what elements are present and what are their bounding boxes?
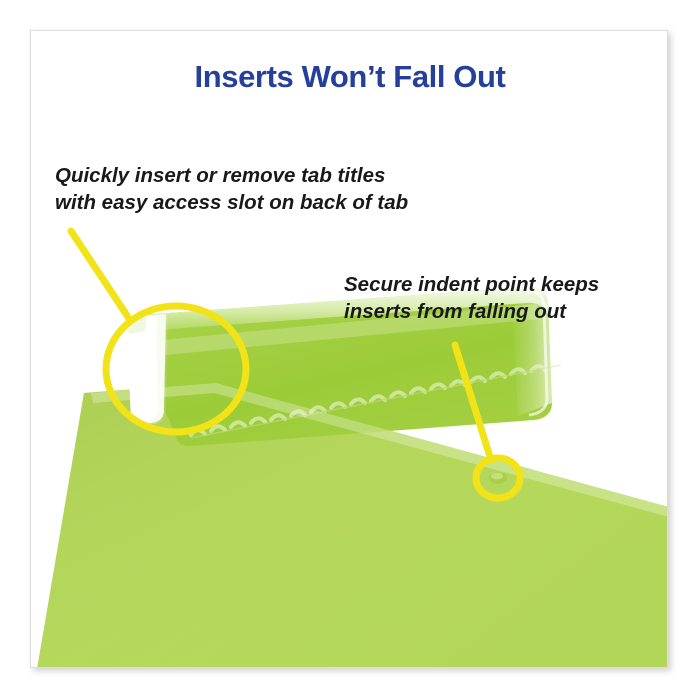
callout-indent-point-line1: Secure indent point keeps bbox=[344, 271, 599, 298]
page-title: Inserts Won’t Fall Out bbox=[31, 59, 668, 95]
callout-indent-point-line2: inserts from falling out bbox=[344, 298, 599, 325]
callout-indent-point: Secure indent point keeps inserts from f… bbox=[344, 271, 599, 325]
product-feature-card: Inserts Won’t Fall Out Quickly insert or… bbox=[30, 30, 668, 668]
callout-access-slot-line1: Quickly insert or remove tab titles bbox=[55, 162, 408, 189]
screenshot-root: Inserts Won’t Fall Out Quickly insert or… bbox=[0, 0, 700, 700]
callout-access-slot: Quickly insert or remove tab titles with… bbox=[55, 162, 408, 216]
callout-access-slot-line2: with easy access slot on back of tab bbox=[55, 189, 408, 216]
product-photo bbox=[31, 31, 668, 668]
secure-indent-point-highlight bbox=[491, 473, 503, 480]
product-photo-svg bbox=[31, 31, 668, 668]
